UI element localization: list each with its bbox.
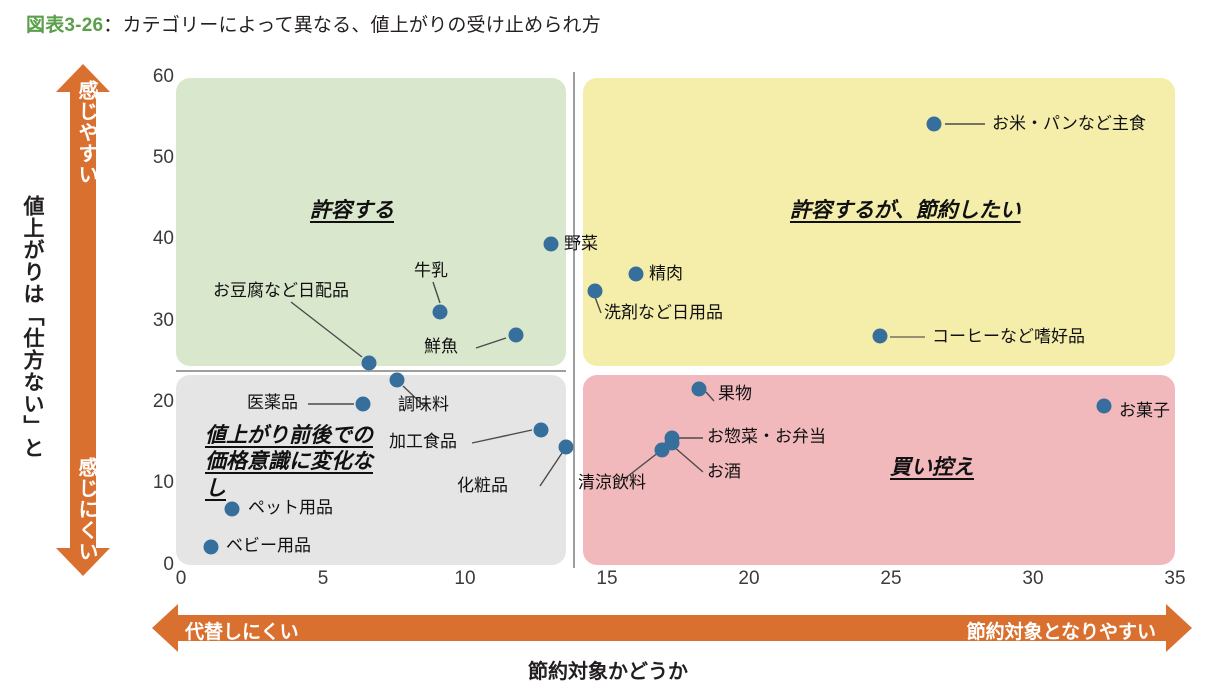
arrow-head-left-icon (152, 604, 178, 652)
data-point-yasai[interactable] (544, 237, 559, 252)
point-label-okome: お米・パンなど主食 (992, 114, 1146, 134)
data-point-senzai[interactable] (588, 284, 603, 299)
data-point-okashi[interactable] (1097, 399, 1112, 414)
x-tick-5: 5 (300, 568, 346, 590)
vertical-divider (573, 72, 575, 568)
data-point-iyakuhin[interactable] (356, 397, 371, 412)
point-label-otofu: お豆腐など日配品 (213, 281, 349, 301)
y-tick-40: 40 (128, 228, 174, 250)
y-axis-arrow: 感じやすい 感じにくい (56, 64, 110, 576)
point-label-seiryoinryo: 清涼飲料 (578, 473, 646, 493)
point-label-chomiryo: 調味料 (398, 395, 449, 415)
quadrant-label-bottom-right: 買い控え (890, 455, 974, 481)
x-axis-arrow-left-label: 代替しにくい (185, 617, 299, 644)
data-point-seiniku[interactable] (629, 267, 644, 282)
point-label-okashi: お菓子 (1119, 401, 1170, 421)
point-label-babyyohin: ベビー用品 (226, 536, 311, 556)
data-point-otofu[interactable] (362, 356, 377, 371)
y-tick-20: 20 (128, 391, 174, 413)
x-axis-arrow-right-label: 節約対象となりやすい (967, 617, 1156, 644)
data-point-petyohin[interactable] (225, 502, 240, 517)
x-tick-0: 0 (158, 568, 204, 590)
point-label-senzai: 洗剤など日用品 (604, 303, 723, 323)
x-axis-arrow: 代替しにくい 節約対象となりやすい (152, 604, 1192, 652)
point-label-seiniku: 精肉 (649, 264, 683, 284)
y-tick-50: 50 (128, 147, 174, 169)
point-label-keshohin: 化粧品 (457, 476, 508, 496)
horizontal-divider (176, 370, 566, 372)
title-separator: ： (103, 15, 122, 36)
data-point-gyunyu[interactable] (433, 305, 448, 320)
data-point-babyyohin[interactable] (204, 540, 219, 555)
data-point-sengyo[interactable] (509, 328, 524, 343)
point-label-iyakuhin: 医薬品 (247, 393, 298, 413)
x-tick-15: 15 (584, 568, 630, 590)
y-tick-30: 30 (128, 310, 174, 332)
data-point-chomiryo[interactable] (390, 373, 405, 388)
figure-number: 図表3-26 (26, 15, 103, 36)
x-tick-25: 25 (868, 568, 914, 590)
quadrant-label-top-right: 許容するが、節約したい (790, 198, 1021, 224)
point-label-sengyo: 鮮魚 (424, 337, 458, 357)
chart-root: 図表3-26：カテゴリーによって異なる、値上がりの受け止められ方 60 50 4… (0, 0, 1230, 692)
y-tick-60: 60 (128, 66, 174, 88)
point-label-osake: お酒 (707, 462, 741, 482)
point-label-petyohin: ペット用品 (248, 498, 333, 518)
x-tick-30: 30 (1010, 568, 1056, 590)
page-title: 図表3-26：カテゴリーによって異なる、値上がりの受け止められ方 (26, 10, 601, 37)
quadrant-label-top-left: 許容する (310, 198, 394, 224)
point-label-kudamono: 果物 (718, 384, 752, 404)
title-text: カテゴリーによって異なる、値上がりの受け止められ方 (122, 15, 600, 36)
x-tick-20: 20 (726, 568, 772, 590)
point-label-yasai: 野菜 (564, 234, 598, 254)
quadrant-label-bottom-left: 値上がり前後での 価格意識に変化なし (205, 423, 387, 502)
point-label-osozai: お惣菜・お弁当 (707, 427, 826, 447)
data-point-keshohin[interactable] (559, 440, 574, 455)
y-tick-10: 10 (128, 472, 174, 494)
quadrant-label-bottom-left-l2: 価格意識に変化なし (205, 450, 373, 499)
arrow-head-right-icon (1166, 604, 1192, 652)
point-label-gyunyu: 牛乳 (414, 261, 448, 281)
data-point-coffee[interactable] (873, 329, 888, 344)
x-axis-title: 節約対象かどうか (528, 655, 688, 684)
quadrant-label-bottom-left-l1: 値上がり前後での (205, 424, 373, 447)
data-point-kakoshokuhin[interactable] (534, 423, 549, 438)
x-tick-35: 35 (1152, 568, 1198, 590)
x-tick-10: 10 (442, 568, 488, 590)
y-axis-arrow-top-label: 感じやすい (72, 80, 101, 185)
y-axis-title: 値上がりは「仕方ない」と (22, 195, 43, 459)
data-point-kudamono[interactable] (692, 382, 707, 397)
point-label-kakoshokuhin: 加工食品 (389, 432, 457, 452)
data-point-seiryoinryo[interactable] (655, 443, 670, 458)
data-point-okome[interactable] (927, 117, 942, 132)
y-axis-arrow-bottom-label: 感じにくい (72, 457, 101, 562)
point-label-coffee: コーヒーなど嗜好品 (932, 327, 1085, 347)
quadrant-bottom-right (583, 375, 1175, 565)
